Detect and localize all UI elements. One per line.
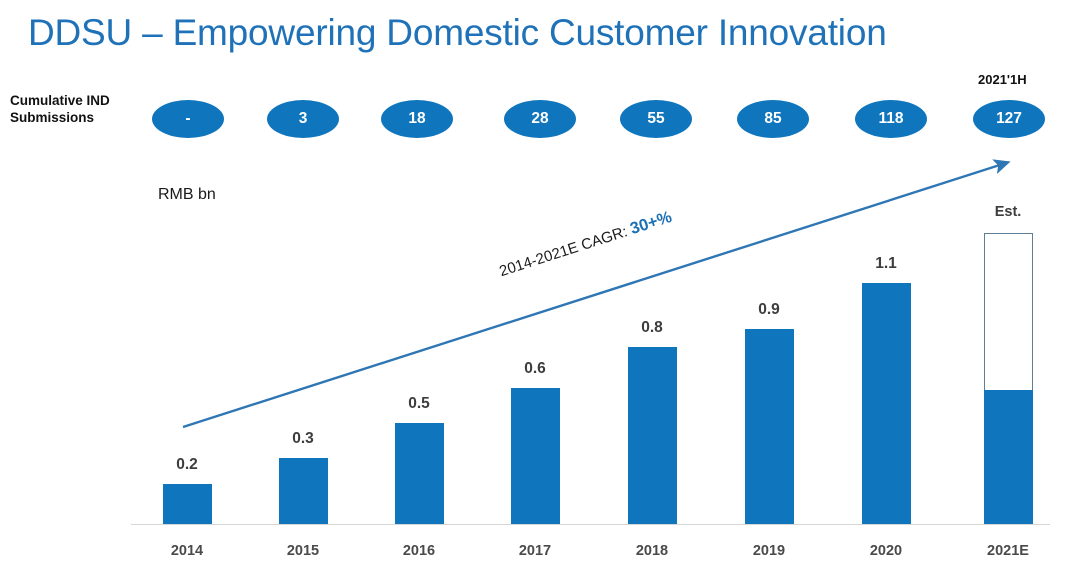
- x-axis-baseline: [131, 524, 1050, 525]
- bar-value-2018: 0.8: [617, 319, 687, 337]
- x-axis-label-2019: 2019: [734, 543, 804, 559]
- bar-2019: [745, 329, 794, 524]
- x-axis-label-2021E: 2021E: [973, 543, 1043, 559]
- cagr-annotation: 2014-2021E CAGR: 30+%: [497, 208, 674, 281]
- bar-estimate-outline-2021E: [984, 233, 1033, 391]
- bar-value-2014: 0.2: [152, 456, 222, 474]
- bar-2021E: [984, 390, 1033, 524]
- x-axis-label-2017: 2017: [500, 543, 570, 559]
- bar-2018: [628, 347, 677, 524]
- x-axis-label-2018: 2018: [617, 543, 687, 559]
- bar-value-2019: 0.9: [734, 301, 804, 319]
- bar-value-2015: 0.3: [268, 430, 338, 448]
- bar-2017: [511, 388, 560, 524]
- bar-chart-plot: Est. 0.2 0.3 0.5 0.6 0.8 0.9 1.1 2014 20…: [0, 0, 1080, 575]
- bar-2014: [163, 484, 212, 524]
- x-axis-label-2020: 2020: [851, 543, 921, 559]
- cagr-annotation-prefix: 2014-2021E CAGR:: [497, 222, 633, 280]
- bar-value-2020: 1.1: [851, 255, 921, 273]
- bar-2016: [395, 423, 444, 524]
- estimate-marker-label: Est.: [973, 204, 1043, 220]
- x-axis-label-2016: 2016: [384, 543, 454, 559]
- bar-2020: [862, 283, 911, 524]
- bar-2015: [279, 458, 328, 524]
- cagr-annotation-value: 30+%: [628, 208, 674, 238]
- bar-value-2017: 0.6: [500, 360, 570, 378]
- x-axis-label-2014: 2014: [152, 543, 222, 559]
- slide-canvas: DDSU – Empowering Domestic Customer Inno…: [0, 0, 1080, 575]
- x-axis-label-2015: 2015: [268, 543, 338, 559]
- bar-value-2016: 0.5: [384, 395, 454, 413]
